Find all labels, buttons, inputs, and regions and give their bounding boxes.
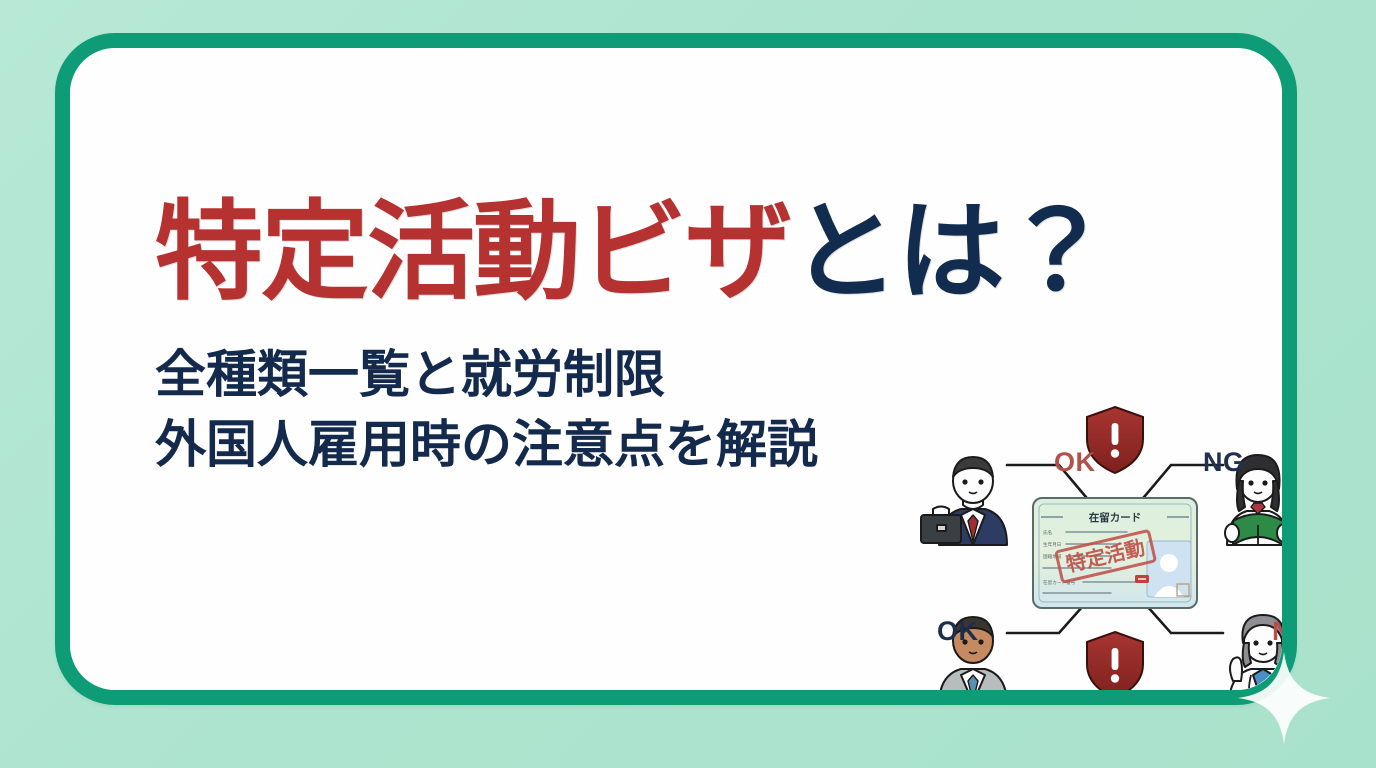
page-subtitle: 全種類一覧と就労制限 外国人雇用時の注意点を解説: [155, 340, 915, 481]
text-block: 特定活動ビザとは？ 全種類一覧と就労制限 外国人雇用時の注意点を解説: [155, 198, 915, 481]
svg-text:生年月日: 生年月日: [1043, 541, 1061, 548]
label-ng-top-right: NG: [1203, 447, 1245, 478]
label-ng-bottom-right: NG: [1272, 616, 1282, 647]
illustration: 在留カード 氏名 生年月日 国籍地域 在留カード番号: [915, 393, 1282, 690]
label-ok-top-left: OK: [1054, 447, 1096, 478]
bottom-alert-icon: [1087, 632, 1143, 690]
svg-text:氏名: 氏名: [1043, 529, 1053, 536]
frame-inner-surface: 特定活動ビザとは？ 全種類一覧と就労制限 外国人雇用時の注意点を解説: [70, 48, 1282, 690]
residence-card: 在留カード 氏名 生年月日 国籍地域 在留カード番号: [1033, 498, 1197, 608]
page-background: 特定活動ビザとは？ 全種類一覧と就労制限 外国人雇用時の注意点を解説: [0, 0, 1376, 768]
title-rest: とは？: [791, 191, 1109, 312]
card-heading: 在留カード: [1089, 511, 1142, 524]
page-title: 特定活動ビザとは？: [155, 198, 915, 306]
subtitle-line-2: 外国人雇用時の注意点を解説: [155, 410, 915, 480]
title-highlight: 特定活動ビザ: [155, 191, 791, 312]
person-businessman-navy-suit: [921, 457, 1007, 545]
label-ok-bottom-left: OK: [937, 616, 979, 647]
subtitle-line-1: 全種類一覧と就労制限: [155, 340, 915, 410]
content-frame: 特定活動ビザとは？ 全種類一覧と就労制限 外国人雇用時の注意点を解説: [55, 33, 1297, 705]
